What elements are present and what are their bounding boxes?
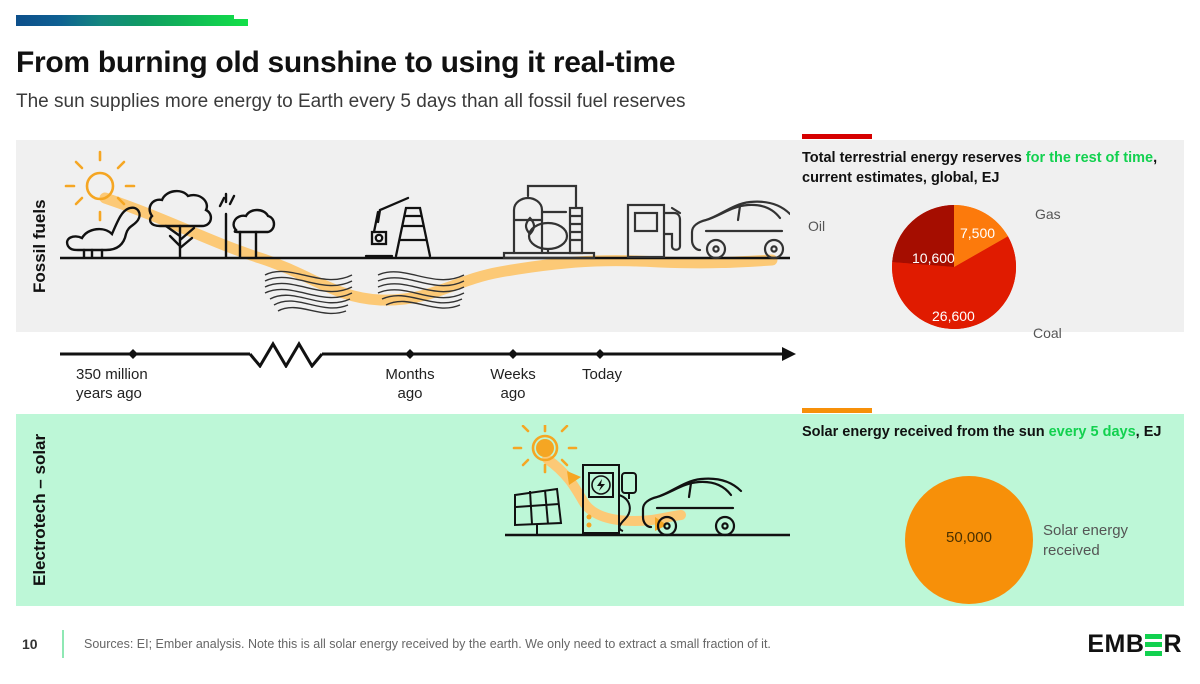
pie-value-oil: 10,600 <box>912 250 955 266</box>
solar-received-chart: Solar energy received from the sun every… <box>790 414 1184 606</box>
solar-legend-line2: received <box>1043 541 1128 561</box>
ember-logo-text-part1: EMB <box>1087 630 1144 659</box>
chart-accent-bar-red <box>802 134 872 139</box>
timeline-tick-label-2: Weeks ago <box>473 366 553 404</box>
pie-label-oil: Oil <box>808 218 825 234</box>
timeline-tick-label-3: Today <box>562 366 642 385</box>
page-number: 10 <box>22 636 38 652</box>
sun-core <box>536 439 554 457</box>
gradient-bar-notch <box>234 15 248 19</box>
solar-illustration-svg <box>505 425 795 545</box>
solar-illustration <box>505 425 795 545</box>
row-label-electrotech-solar: Electrotech – solar <box>30 430 50 590</box>
chart-accent-bar-orange <box>802 408 872 413</box>
fossil-fuel-illustration <box>60 150 790 325</box>
page-title: From burning old sunshine to using it re… <box>16 46 675 80</box>
brand-gradient-bar <box>16 15 248 26</box>
solar-chart-title-part2: , EJ <box>1136 424 1162 440</box>
solar-legend-line1: Solar energy <box>1043 521 1128 541</box>
pie-value-gas: 7,500 <box>960 225 995 241</box>
footer-divider <box>62 630 64 658</box>
petrol-pump-icon <box>628 205 680 257</box>
refinery-icon <box>504 186 594 258</box>
timeline-tick-label-1: Months ago <box>365 366 455 404</box>
ember-logo: EMBR <box>1087 630 1182 659</box>
solar-panel-icon <box>515 489 561 535</box>
sources-note: Sources: EI; Ember analysis. Note this i… <box>84 637 771 651</box>
car-icon <box>643 479 741 535</box>
slide: From burning old sunshine to using it re… <box>0 0 1200 684</box>
fossil-reserves-chart: Total terrestrial energy reserves for th… <box>790 140 1184 332</box>
solar-energy-legend: Solar energy received <box>1043 521 1128 560</box>
row-label-fossil-fuels: Fossil fuels <box>30 186 50 306</box>
solar-chart-title-highlight: every 5 days <box>1049 424 1136 440</box>
dinosaur-icon <box>67 208 139 257</box>
pie-value-coal: 26,600 <box>932 308 975 324</box>
timeline-tick-label-0: 350 million years ago <box>76 366 148 404</box>
fossil-chart-title-part1: Total terrestrial energy reserves <box>802 150 1026 166</box>
timeline-axis <box>60 340 800 368</box>
timeline: 350 million years ago Months ago Weeks a… <box>60 340 800 410</box>
solar-chart-title: Solar energy received from the sun every… <box>802 423 1174 443</box>
car-icon <box>692 202 790 258</box>
fossil-illustration-svg <box>60 150 790 325</box>
solar-energy-value: 50,000 <box>905 529 1033 546</box>
ember-logo-e-glyph <box>1145 634 1162 656</box>
solar-chart-title-part1: Solar energy received from the sun <box>802 424 1049 440</box>
pie-label-coal: Coal <box>1033 325 1062 341</box>
ember-logo-text-part2: R <box>1163 630 1182 659</box>
oil-derrick-icon <box>366 198 430 256</box>
fossil-chart-title: Total terrestrial energy reserves for th… <box>802 149 1174 188</box>
page-subtitle: The sun supplies more energy to Earth ev… <box>16 91 686 113</box>
fossil-chart-title-highlight: for the rest of time <box>1026 150 1153 166</box>
pie-label-gas: Gas <box>1035 206 1061 222</box>
